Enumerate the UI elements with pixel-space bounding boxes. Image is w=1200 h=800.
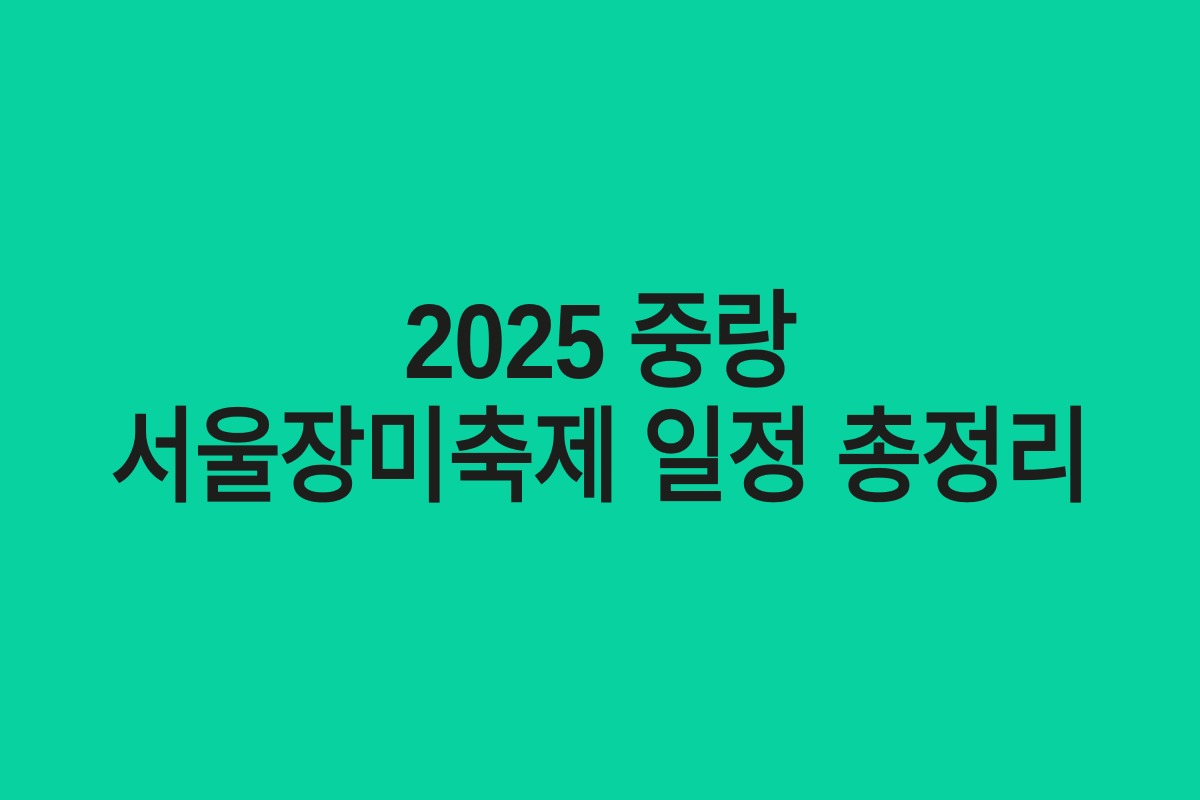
headline-block: 2025 중랑 서울장미축제 일정 총정리	[0, 287, 1200, 513]
headline-line-2: 서울장미축제 일정 총정리	[0, 396, 1200, 519]
thumbnail-canvas: 2025 중랑 서울장미축제 일정 총정리	[0, 0, 1200, 800]
headline-line-1: 2025 중랑	[18, 281, 1182, 404]
